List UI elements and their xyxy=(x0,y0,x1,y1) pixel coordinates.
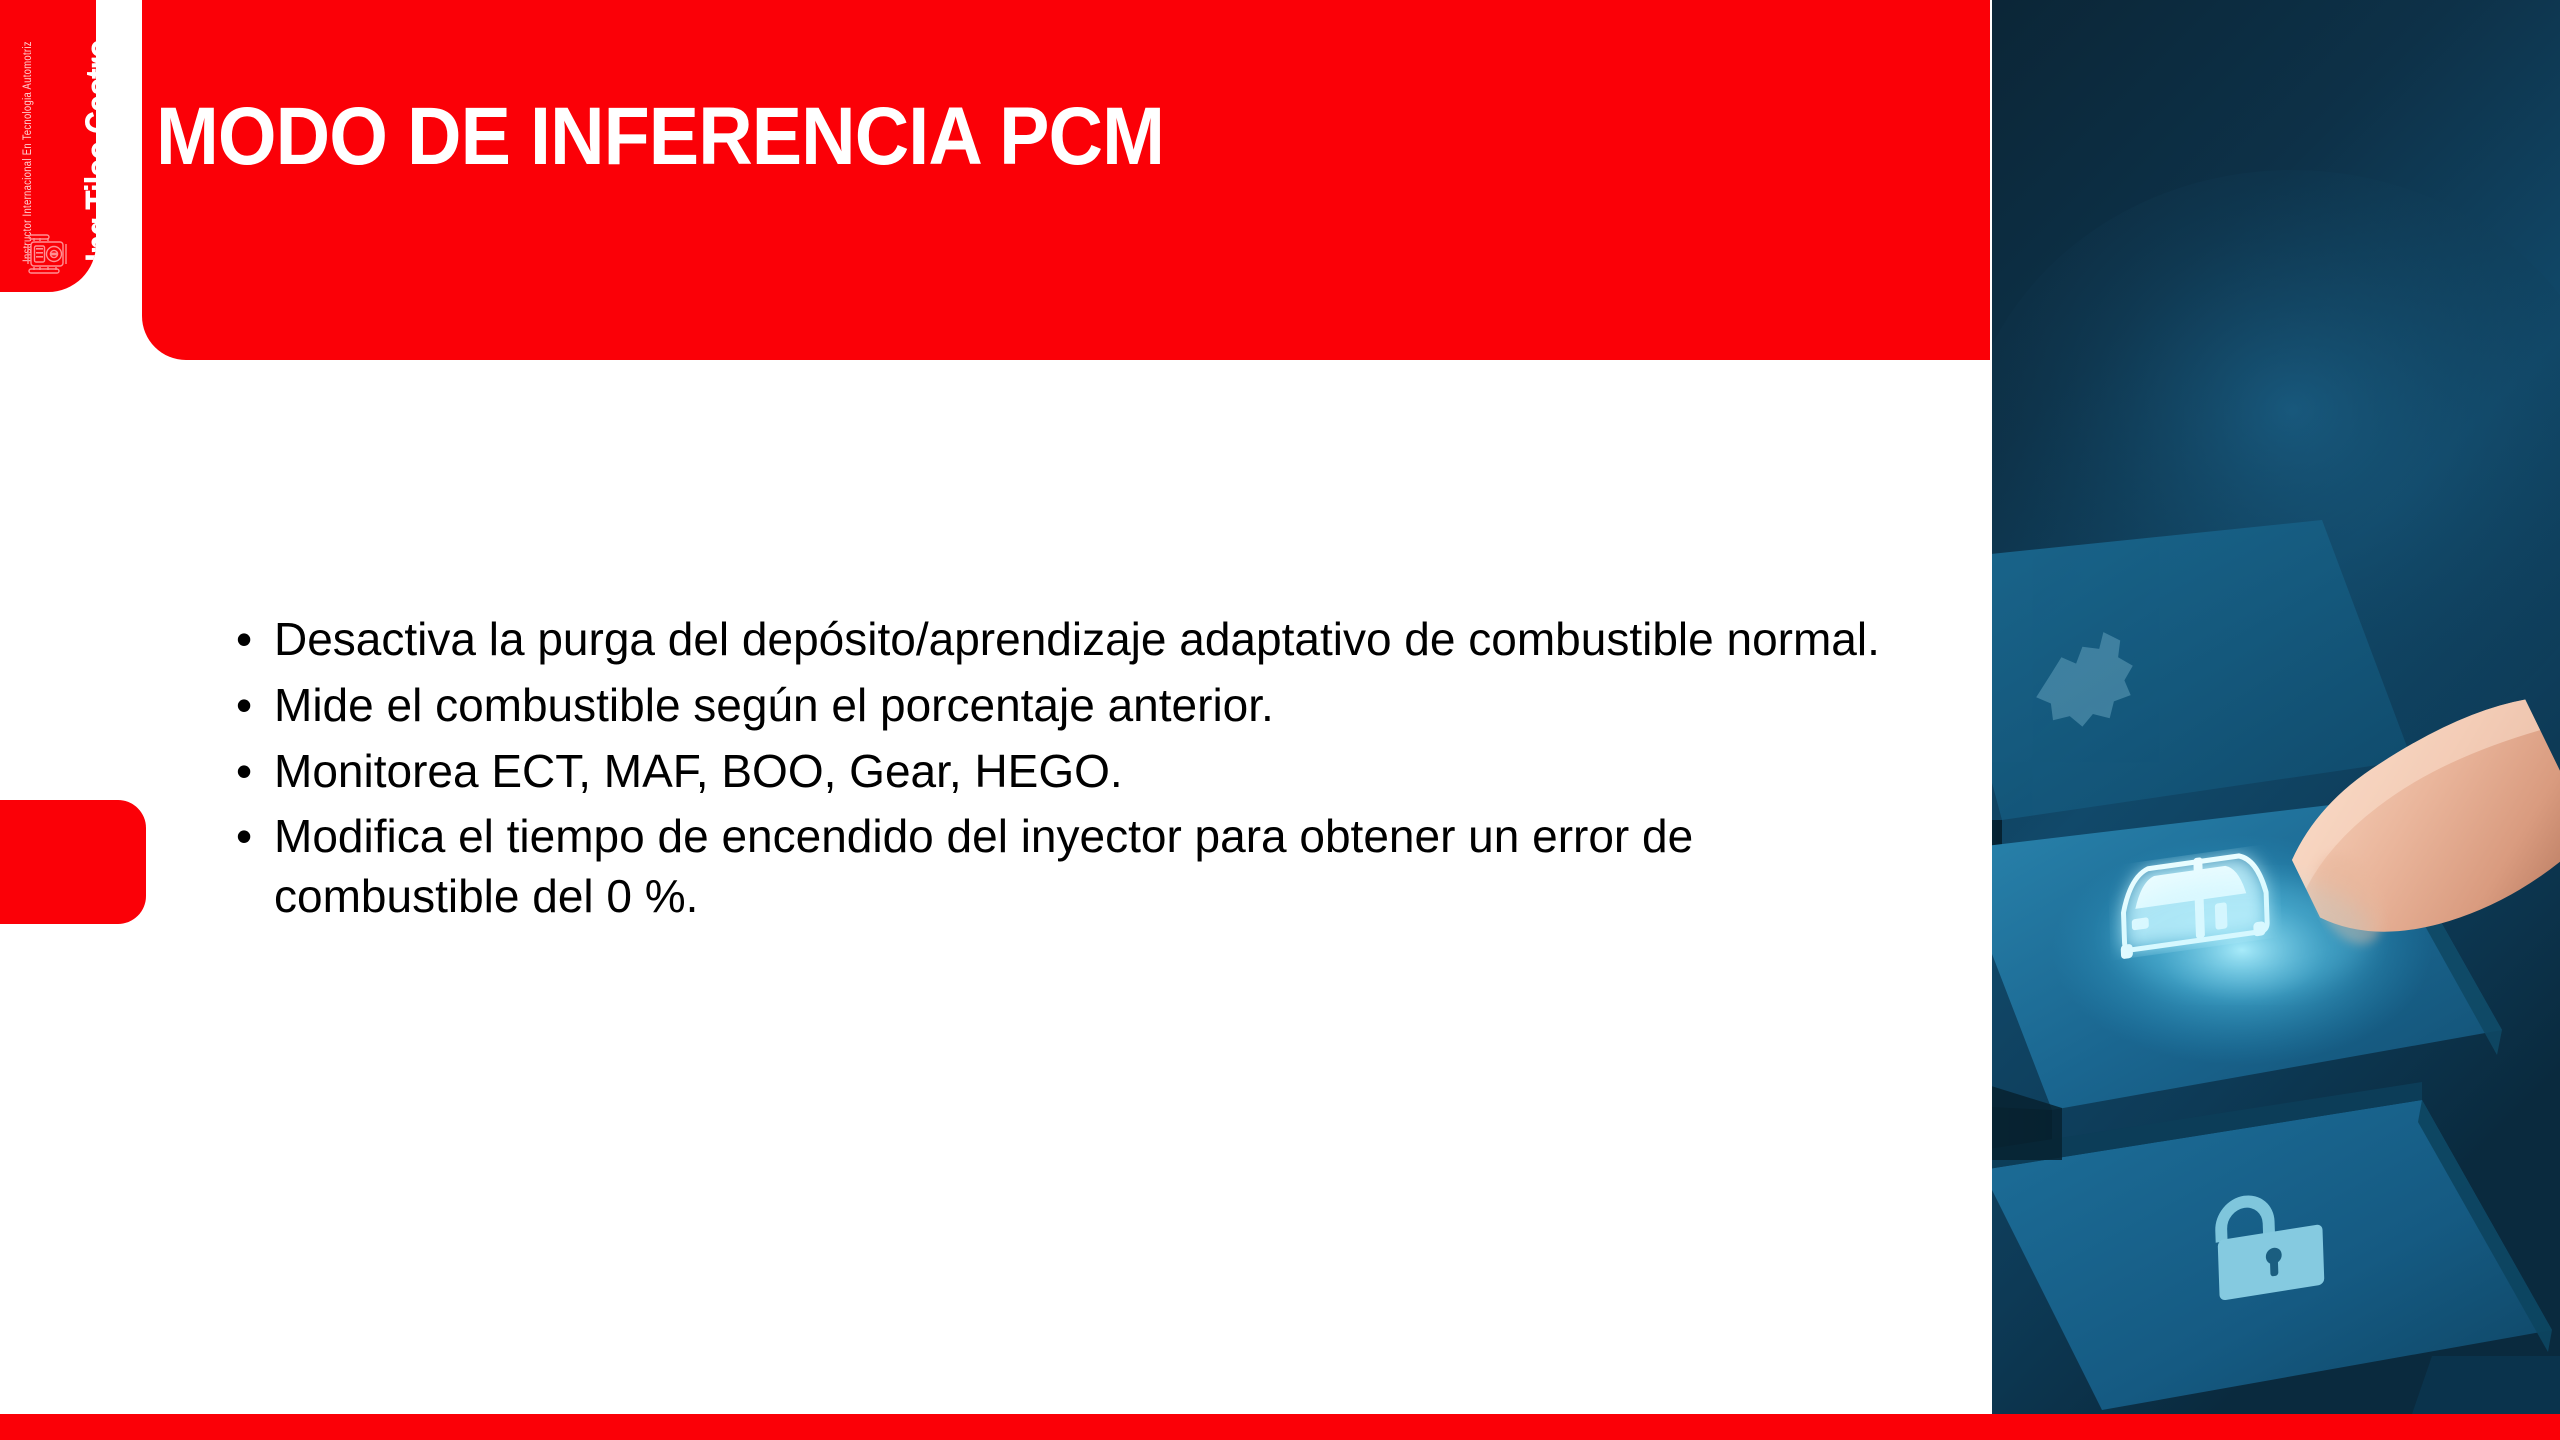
bullet-dot-icon: • xyxy=(236,610,274,670)
bullet-text: Mide el combustible según el porcentaje … xyxy=(274,676,1916,736)
decorative-photo-panel xyxy=(1992,0,2560,1414)
list-item: • Mide el combustible según el porcentaj… xyxy=(236,676,1916,736)
list-item: • Monitorea ECT, MAF, BOO, Gear, HEGO. xyxy=(236,742,1916,802)
bullet-dot-icon: • xyxy=(236,742,274,802)
diagnostic-scanner-icon xyxy=(22,232,72,276)
page-title: MODO DE INFERENCIA PCM xyxy=(156,90,1164,184)
slide-canvas: Ing.Tilso Castro Instructor Internaciona… xyxy=(0,0,2560,1440)
list-item: • Modifica el tiempo de encendido del in… xyxy=(236,807,1916,927)
list-item: • Desactiva la purga del depósito/aprend… xyxy=(236,610,1916,670)
brand-sidebar: Ing.Tilso Castro Instructor Internaciona… xyxy=(0,0,96,292)
bullet-list: • Desactiva la purga del depósito/aprend… xyxy=(236,610,1916,933)
bullet-text: Modifica el tiempo de encendido del inye… xyxy=(274,807,1916,927)
brand-tagline: Instructor Internacional En Tecnologia A… xyxy=(22,41,34,262)
bullet-dot-icon: • xyxy=(236,676,274,736)
bottom-red-bar xyxy=(0,1414,2560,1440)
left-red-accent-tab xyxy=(0,800,146,924)
brand-name: Ing.Tilso Castro xyxy=(78,40,96,262)
touchscreen-keys-photo xyxy=(1992,0,2560,1414)
bullet-text: Desactiva la purga del depósito/aprendiz… xyxy=(274,610,1916,670)
bullet-dot-icon: • xyxy=(236,807,274,867)
bullet-text: Monitorea ECT, MAF, BOO, Gear, HEGO. xyxy=(274,742,1916,802)
